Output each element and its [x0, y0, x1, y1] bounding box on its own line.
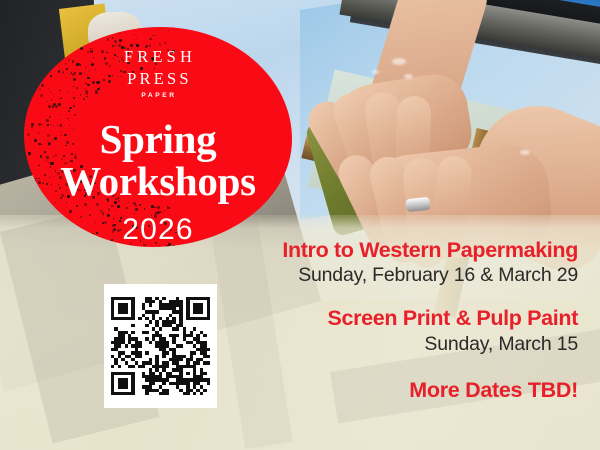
workshop-title: Screen Print & Pulp Paint	[178, 306, 578, 330]
more-dates-tbd: More Dates TBD!	[178, 378, 578, 402]
workshop-date: Sunday, March 15	[178, 333, 578, 356]
workshop-listing: Intro to Western Papermaking Sunday, Feb…	[178, 238, 578, 402]
workshop-title: Intro to Western Papermaking	[178, 238, 578, 262]
listing-spacer	[178, 287, 578, 306]
fresh-press-paper-logo: FRESH PRESS PAPER	[120, 49, 196, 100]
logo-line-fresh: FRESH	[120, 49, 196, 66]
badge-headline-line2: Workshops	[60, 160, 256, 203]
workshop-date: Sunday, February 16 & March 29	[178, 264, 578, 287]
workshop-item: Intro to Western Papermaking Sunday, Feb…	[178, 238, 578, 287]
badge-headline: Spring Workshops	[60, 118, 256, 203]
workshop-item: Screen Print & Pulp Paint Sunday, March …	[178, 306, 578, 355]
badge-headline-line1: Spring	[100, 116, 217, 162]
badge-content: FRESH PRESS PAPER Spring Workshops 2026	[24, 27, 292, 247]
poster: FRESH PRESS PAPER Spring Workshops 2026 …	[0, 0, 600, 450]
spring-workshops-badge: FRESH PRESS PAPER Spring Workshops 2026	[24, 27, 292, 247]
logo-line-paper: PAPER	[139, 93, 176, 100]
logo-line-press: PRESS	[124, 71, 192, 88]
